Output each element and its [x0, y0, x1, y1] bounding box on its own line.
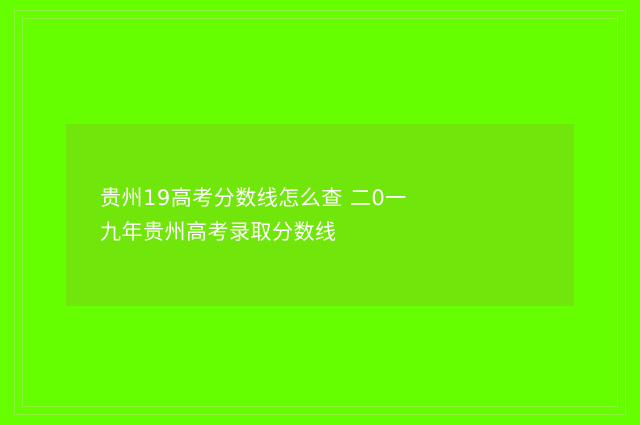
banner-image: 贵州19高考分数线怎么查 二0一九年贵州高考录取分数线 [0, 0, 640, 425]
title-block: 贵州19高考分数线怎么查 二0一九年贵州高考录取分数线 [66, 124, 574, 306]
banner-title: 贵州19高考分数线怎么查 二0一九年贵州高考录取分数线 [100, 181, 420, 249]
